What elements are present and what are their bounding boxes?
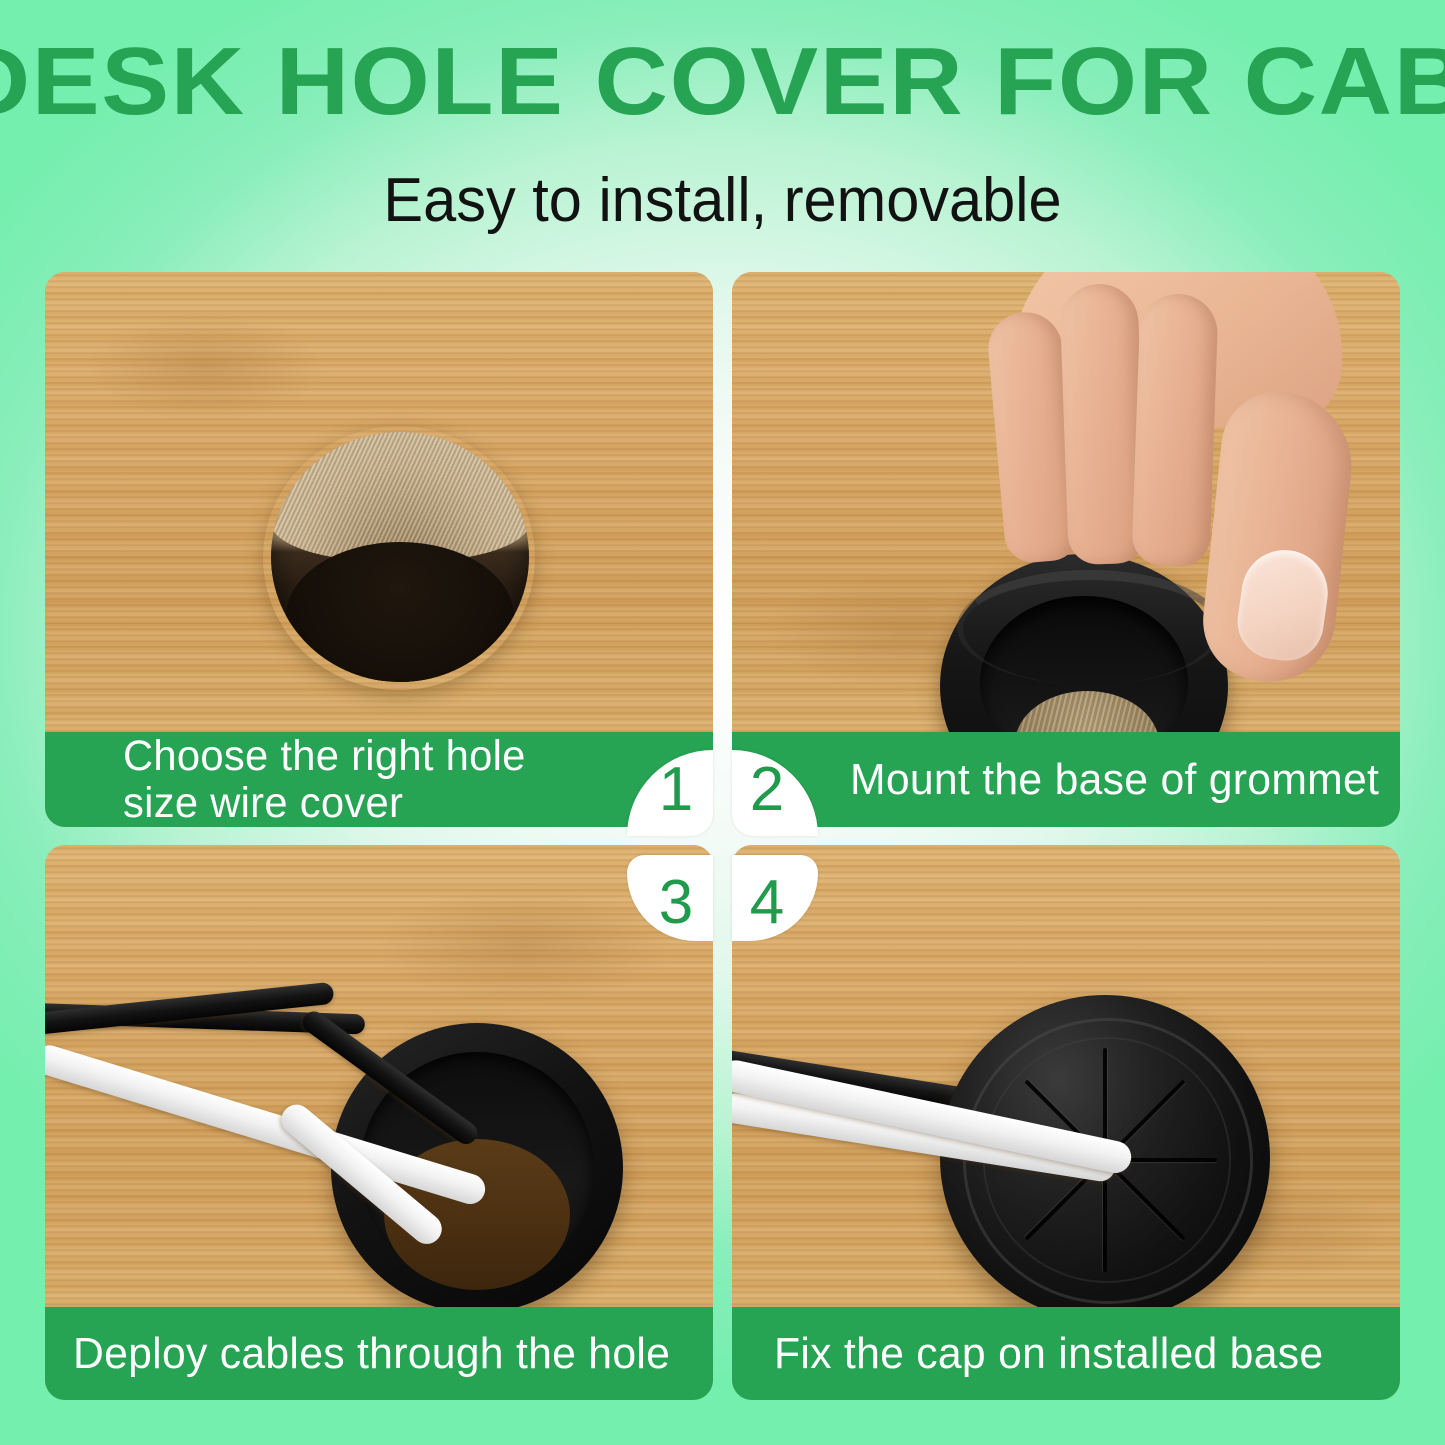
step-1-photo <box>45 272 713 732</box>
step-panel-2: Mount the base of grommet <box>732 272 1400 827</box>
step-3-caption-text: Deploy cables through the hole <box>73 1331 670 1377</box>
step-4-caption-text: Fix the cap on installed base <box>774 1331 1323 1377</box>
step-1-caption: Choose the right hole size wire cover <box>45 732 713 827</box>
step-4-photo <box>732 845 1400 1307</box>
step-3-photo <box>45 845 713 1307</box>
finger <box>1131 293 1218 568</box>
step-panel-4: Fix the cap on installed base <box>732 845 1400 1400</box>
step-4-caption: Fix the cap on installed base <box>732 1307 1400 1400</box>
desk-hole <box>271 432 529 682</box>
step-2-caption-text: Mount the base of grommet <box>850 757 1379 803</box>
steps-grid: Choose the right hole size wire cover <box>45 272 1400 1400</box>
wood-grain-accent <box>85 312 325 422</box>
page-subtitle: Easy to install, removable <box>29 170 1416 232</box>
step-panel-1: Choose the right hole size wire cover <box>45 272 713 827</box>
page-title: DESK HOLE COVER FOR CABLES <box>0 34 1445 130</box>
step-panel-3: Deploy cables through the hole <box>45 845 713 1400</box>
hand <box>976 272 1400 662</box>
step-3-caption: Deploy cables through the hole <box>45 1307 713 1400</box>
step-1-caption-text: Choose the right hole size wire cover <box>123 733 526 827</box>
wood-grain-accent <box>375 885 675 1005</box>
header: DESK HOLE COVER FOR CABLES Easy to insta… <box>0 0 1445 262</box>
step-2-caption: Mount the base of grommet <box>732 732 1400 827</box>
step-2-photo <box>732 272 1400 732</box>
